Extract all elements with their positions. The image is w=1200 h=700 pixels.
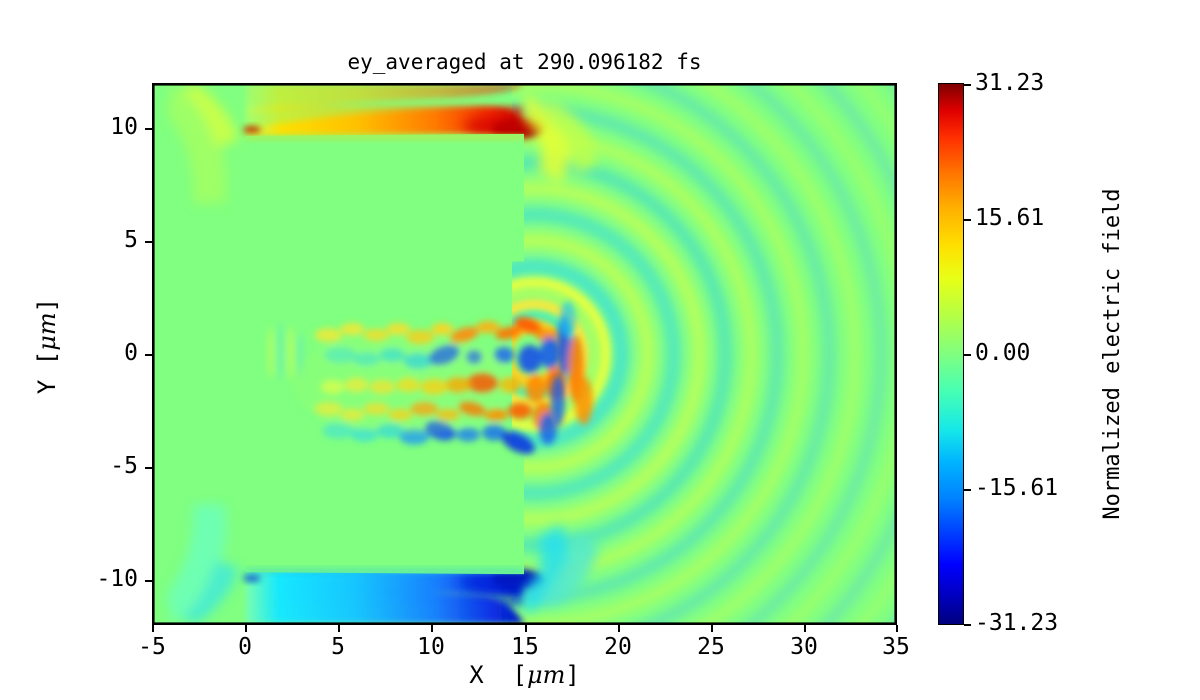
colorbar-tick-label: -15.61 [975,475,1058,501]
y-tick-label: 10 [48,114,138,140]
x-tick-label: 10 [386,634,476,660]
x-tick-mark [711,625,713,632]
y-tick-label: -5 [48,453,138,479]
x-axis-label-prefix: X [ [469,661,527,689]
x-tick-mark [896,625,898,632]
figure-canvas: ey_averaged at 290.096182 fs [0,0,1200,700]
y-axis-label-unit: μm [33,312,61,350]
colorbar-tick-mark [964,219,971,221]
x-tick-mark [431,625,433,632]
colorbar-tick-mark [964,84,971,86]
y-tick-mark [145,128,152,130]
x-tick-label: 20 [573,634,663,660]
x-tick-mark [245,625,247,632]
x-axis-label-unit: μm [527,661,565,689]
colorbar [938,83,964,625]
x-tick-label: -5 [107,634,197,660]
x-tick-label: 5 [293,634,383,660]
y-tick-mark [145,580,152,582]
x-tick-label: 25 [666,634,756,660]
colorbar-tick-label: 31.23 [975,70,1044,96]
colorbar-gradient [939,84,963,624]
colorbar-tick-mark [964,354,971,356]
x-tick-mark [804,625,806,632]
colorbar-tick-mark [964,624,971,626]
x-tick-label: 15 [480,634,570,660]
colorbar-tick-mark [964,489,971,491]
colorbar-tick-label: -31.23 [975,610,1058,636]
colorbar-axis-label: Normalized electric field [1100,74,1125,634]
y-axis-label-suffix: ] [33,298,61,312]
colorbar-tick-label: 0.00 [975,340,1030,366]
x-tick-label: 30 [759,634,849,660]
y-tick-mark [145,467,152,469]
y-axis-label: Y [μm] [33,236,61,456]
y-tick-label: -10 [48,566,138,592]
field-heatmap [153,84,896,624]
y-tick-mark [145,241,152,243]
y-axis-label-prefix: Y [ [33,351,61,394]
x-tick-label: 35 [851,634,941,660]
colorbar-tick-label: 15.61 [975,205,1044,231]
x-tick-label: 0 [200,634,290,660]
x-axis-label: X [μm] [152,661,897,689]
x-tick-mark [152,625,154,632]
plot-title: ey_averaged at 290.096182 fs [152,50,897,74]
y-tick-label: 0 [48,340,138,366]
x-tick-mark [618,625,620,632]
x-tick-mark [338,625,340,632]
y-tick-label: 5 [48,227,138,253]
y-tick-mark [145,354,152,356]
x-axis-label-suffix: ] [565,661,579,689]
x-tick-mark [525,625,527,632]
plot-axes [152,83,897,625]
